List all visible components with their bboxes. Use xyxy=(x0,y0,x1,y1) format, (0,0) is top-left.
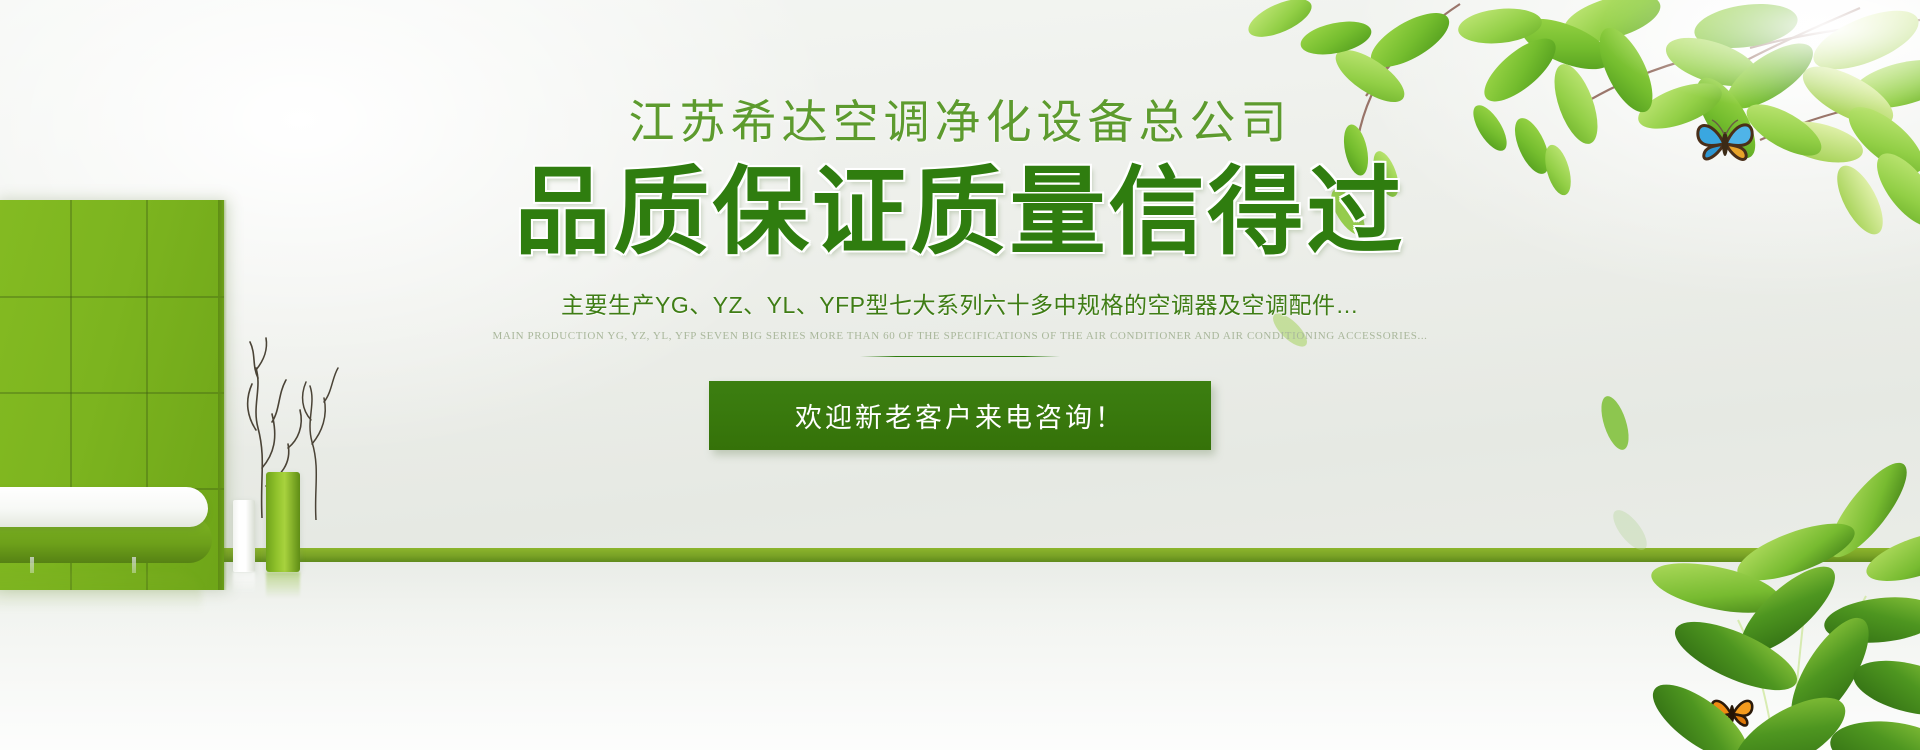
vase-reflection xyxy=(266,572,300,598)
sofa-cushion xyxy=(0,487,208,527)
page-title: 品质保证质量信得过 xyxy=(0,163,1920,264)
divider xyxy=(860,356,1060,357)
vase-reflection xyxy=(233,572,255,594)
hero-banner: 江苏希达空调净化设备总公司 品质保证质量信得过 主要生产YG、YZ、YL、YFP… xyxy=(0,0,1920,750)
contact-cta-button[interactable]: 欢迎新老客户来电咨询！ xyxy=(709,381,1211,450)
sofa-reflection xyxy=(0,572,202,612)
green-white-vase xyxy=(266,472,300,572)
hero-copy: 江苏希达空调净化设备总公司 品质保证质量信得过 主要生产YG、YZ、YL、YFP… xyxy=(0,96,1920,450)
company-name: 江苏希达空调净化设备总公司 xyxy=(0,96,1920,149)
cta-container: 欢迎新老客户来电咨询！ xyxy=(0,381,1920,450)
potted-green-plant xyxy=(1490,460,1920,750)
tall-white-vase xyxy=(233,500,255,572)
subtitle-english: MAIN PRODUCTION YG, YZ, YL, YFP SEVEN BI… xyxy=(0,330,1920,341)
subtitle-chinese: 主要生产YG、YZ、YL、YFP型七大系列六十多中规格的空调器及空调配件… xyxy=(0,286,1920,320)
sofa xyxy=(0,487,212,573)
